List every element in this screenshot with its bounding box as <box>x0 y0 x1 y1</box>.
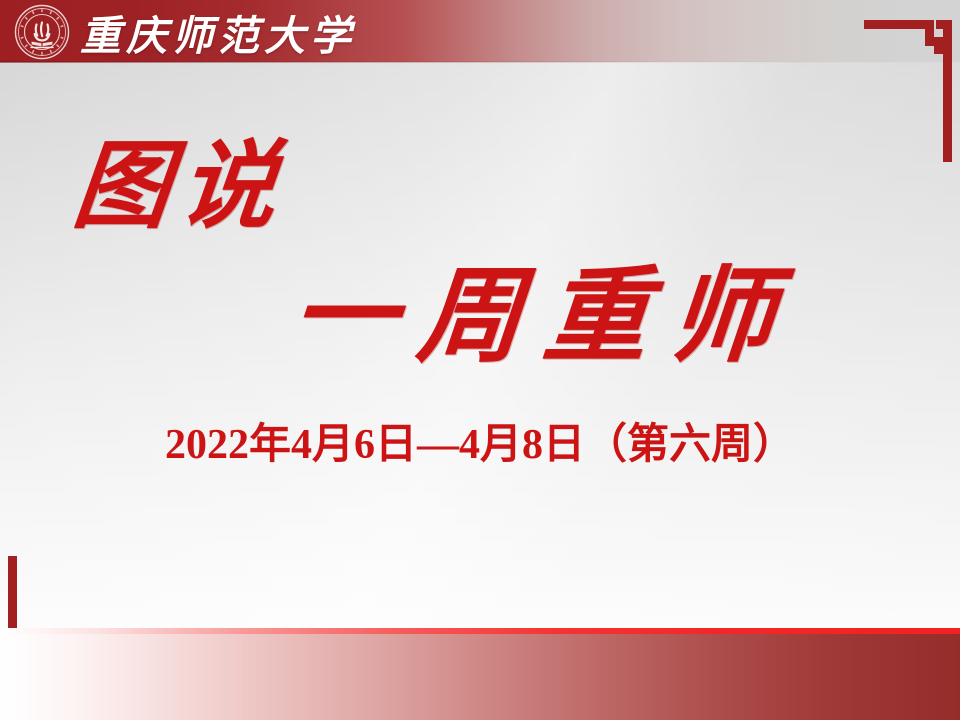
footer-banner <box>0 628 960 720</box>
footer-gradient-band <box>0 634 960 720</box>
title-primary: 一周重师 <box>287 266 800 370</box>
presentation-slide: 重庆师范大学 <box>0 0 960 720</box>
university-seal-icon <box>14 4 70 60</box>
title-secondary: 图说 <box>69 139 291 235</box>
header-banner-edge <box>0 61 960 63</box>
corner-ornament-top-right-icon <box>864 4 952 162</box>
date-range-subtitle: 2022年4月6日—4月8日（第六周） <box>0 421 960 469</box>
header-banner: 重庆师范大学 <box>0 0 960 62</box>
university-name-title: 重庆师范大学 <box>80 6 356 58</box>
